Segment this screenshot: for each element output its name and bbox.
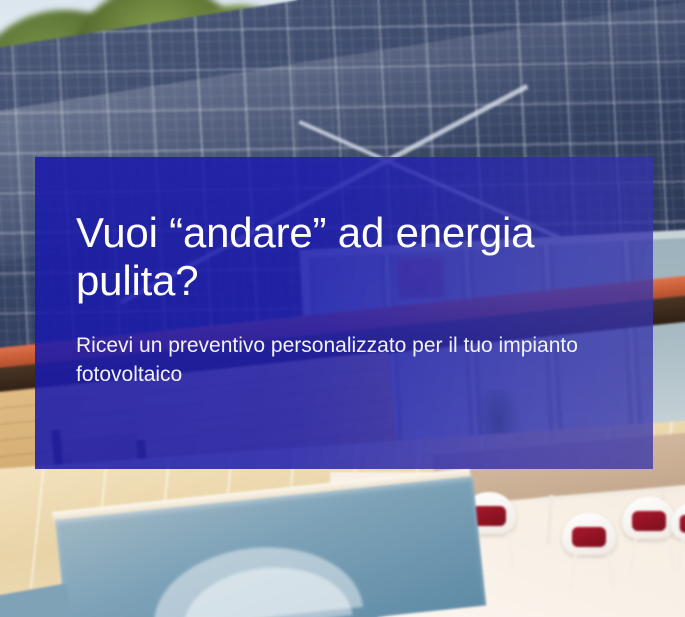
chair-legs (569, 554, 615, 589)
hero-title: Vuoi “andare” ad energia pulita? (76, 209, 613, 305)
chair-legs (629, 538, 675, 573)
hero-subtitle: Ricevi un preventivo personalizzato per … (76, 331, 596, 389)
chair-cushion (572, 527, 606, 547)
outdoor-chair (622, 497, 676, 539)
outdoor-chair (562, 513, 616, 555)
chair-cushion (680, 515, 685, 533)
hero-banner: Vuoi “andare” ad energia pulita? Ricevi … (0, 0, 685, 617)
chair-cushion (632, 511, 666, 531)
hero-overlay-card: Vuoi “andare” ad energia pulita? Ricevi … (35, 157, 653, 469)
